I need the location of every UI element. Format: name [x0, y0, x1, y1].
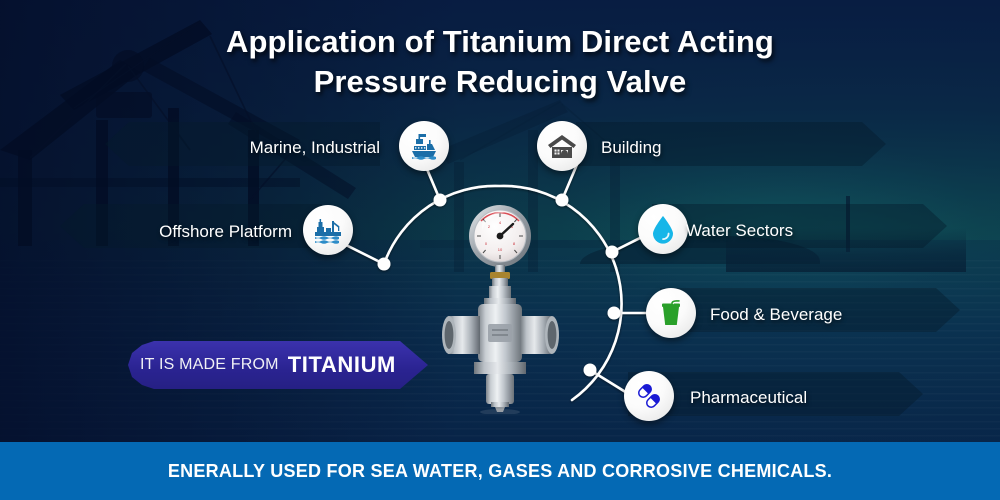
label-offshore-platform: Offshore Platform	[10, 223, 292, 240]
infographic-banner: Application of Titanium Direct Acting Pr…	[0, 0, 1000, 500]
icon-bubble-offshore-platform[interactable]	[303, 205, 353, 255]
pressure-gauge: 246 8100	[469, 205, 531, 267]
label-pharmaceutical: Pharmaceutical	[690, 389, 807, 406]
icon-bubble-marine-industrial[interactable]	[399, 121, 449, 171]
valve-bonnet	[489, 286, 511, 300]
titanium-badge: IT IS MADE FROM TITANIUM	[128, 341, 428, 389]
beverage-cup-icon	[656, 298, 686, 328]
page-title: Application of Titanium Direct Acting Pr…	[0, 22, 1000, 103]
icon-bubble-pharmaceutical[interactable]	[624, 371, 674, 421]
label-water-sectors: Water Sectors	[686, 222, 793, 239]
title-line-1: Application of Titanium Direct Acting	[0, 22, 1000, 62]
spring-housing	[486, 374, 514, 404]
oil-rig-icon	[313, 215, 343, 245]
label-food-beverage: Food & Beverage	[710, 306, 842, 323]
pressure-reducing-valve-image: 246 8100	[434, 196, 566, 414]
title-line-2: Pressure Reducing Valve	[0, 62, 1000, 102]
label-marine-industrial: Marine, Industrial	[10, 139, 380, 156]
valve-body	[442, 304, 559, 362]
valve-flange	[474, 362, 526, 374]
badge-prefix-text: IT IS MADE FROM	[140, 356, 279, 374]
icon-bubble-water-sectors[interactable]	[638, 204, 688, 254]
label-building: Building	[601, 139, 662, 156]
svg-text:10: 10	[498, 247, 503, 252]
house-icon	[547, 131, 577, 161]
cargo-ship-icon	[409, 131, 439, 161]
water-droplet-icon	[648, 214, 678, 244]
bottom-banner-text: ENERALLY USED FOR SEA WATER, GASES AND C…	[168, 461, 832, 482]
badge-material-text: TITANIUM	[288, 352, 396, 378]
brass-fitting	[490, 272, 510, 279]
capsule-pills-icon	[634, 381, 664, 411]
icon-bubble-building[interactable]	[537, 121, 587, 171]
icon-bubble-food-beverage[interactable]	[646, 288, 696, 338]
bottom-banner: ENERALLY USED FOR SEA WATER, GASES AND C…	[0, 442, 1000, 500]
